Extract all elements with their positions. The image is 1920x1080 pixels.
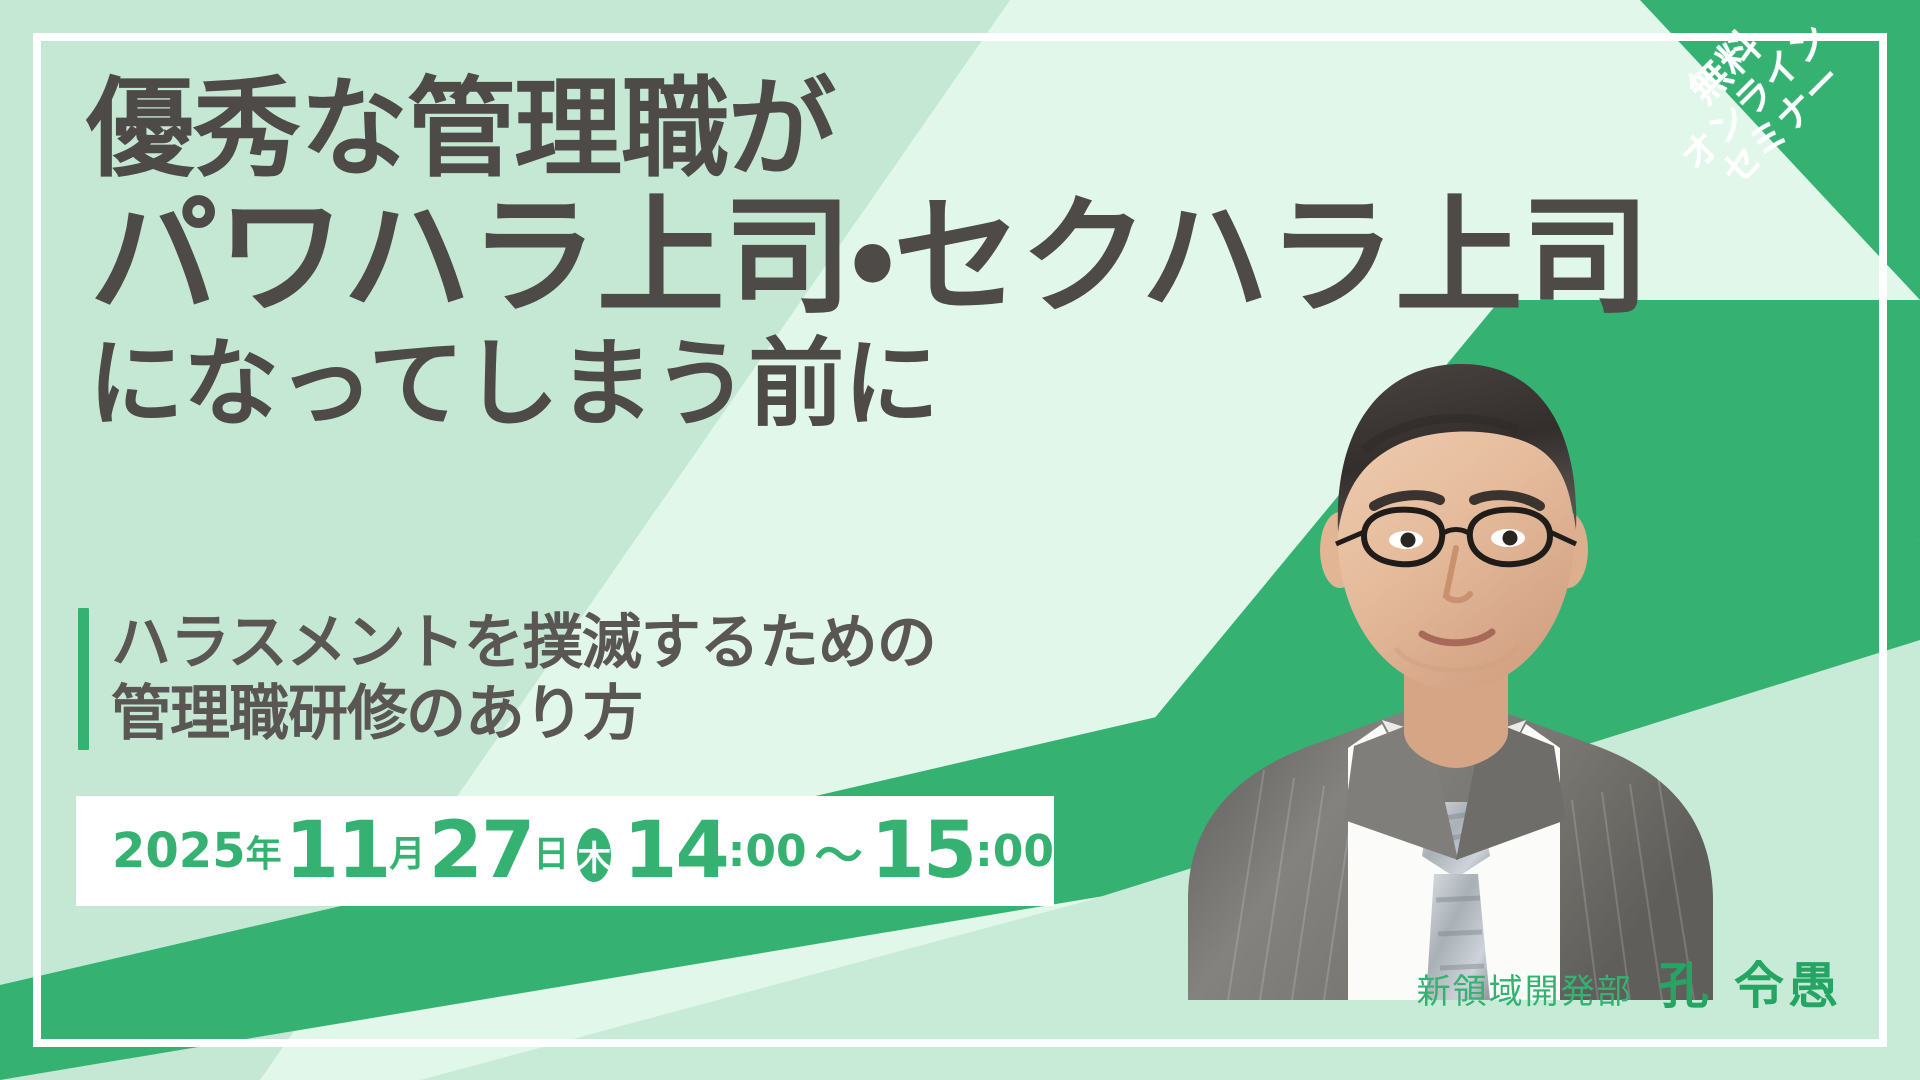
date-time-bar: 2025 年 11 月 27 日 木 14 :00 ～ 15 :00 [76, 796, 1054, 906]
date-year-unit: 年 [246, 825, 282, 877]
pupil-left [1401, 533, 1416, 548]
start-hour: 14 [623, 806, 728, 896]
subtitle-block: ハラスメントを撲滅するための 管理職研修のあり方 [78, 608, 936, 750]
date-year-value: 2025 [112, 823, 246, 879]
end-hour: 15 [871, 806, 976, 896]
presenter-department: 新領域開発部 [1417, 964, 1633, 1013]
headline-line-2: パワハラ上司・セクハラ上司 [90, 194, 1649, 322]
date-month-value: 11 [285, 806, 390, 896]
date-month-unit: 月 [389, 825, 425, 877]
page-title: 優秀な管理職が パワハラ上司・セクハラ上司 になってしまう前に [86, 76, 1649, 432]
time-range-mark: ～ [815, 816, 863, 886]
end-minute: :00 [975, 826, 1054, 877]
headline-line-3: になってしまう前に [88, 336, 1649, 432]
presenter-credit: 新領域開発部 孔 令愚 [1417, 946, 1842, 1018]
start-minute: :00 [728, 826, 807, 877]
presenter-name: 孔 令愚 [1659, 946, 1842, 1018]
headline-line-1: 優秀な管理職が [86, 76, 1649, 184]
subtitle-text: ハラスメントを撲滅するための 管理職研修のあり方 [111, 608, 936, 750]
day-of-week-badge: 木 [577, 828, 611, 882]
date-day-value: 27 [429, 806, 534, 896]
pupil-right [1503, 531, 1518, 546]
subtitle-accent-bar [78, 608, 89, 750]
subtitle-line-2: 管理職研修のあり方 [111, 679, 936, 750]
date-day-unit: 日 [533, 825, 569, 877]
subtitle-line-1: ハラスメントを撲滅するための [111, 608, 936, 679]
seminar-banner: 無料 オンライン セミナー 優秀な管理職が パワハラ上司・セクハラ上司 になって… [0, 0, 1920, 1080]
